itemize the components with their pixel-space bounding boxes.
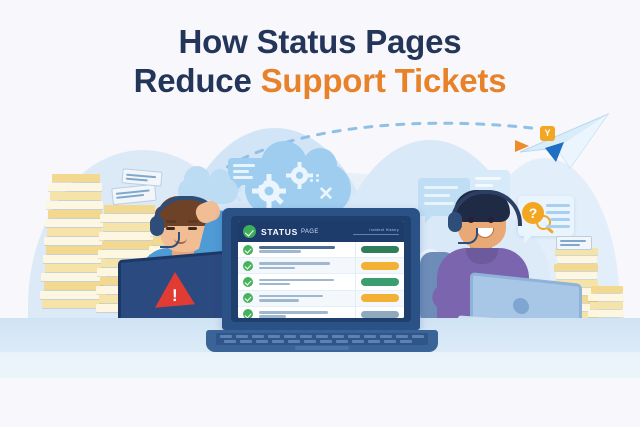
bottom-margin [0, 378, 640, 427]
sparkle [352, 196, 356, 200]
status-row-text [259, 309, 350, 318]
status-row-text [259, 261, 350, 271]
help-question-card: ? [518, 196, 574, 236]
status-row-text [259, 293, 350, 303]
center-laptop-keys [216, 333, 428, 345]
x-mark-icon: ✕ [318, 183, 334, 206]
row-divider [355, 258, 356, 273]
status-page-meta-rule [353, 234, 399, 236]
status-badge[interactable] [361, 311, 399, 318]
headline-line-2-plain: Reduce [134, 62, 261, 99]
status-row-text [259, 245, 350, 255]
status-row-list [238, 242, 404, 318]
row-divider [355, 274, 356, 289]
check-circle-icon [243, 293, 253, 303]
check-circle-icon [243, 261, 253, 271]
status-badge[interactable] [361, 294, 399, 302]
status-row[interactable] [238, 274, 404, 290]
poster-canvas: Y ✕ ✕ ? [0, 0, 640, 427]
status-row[interactable] [238, 258, 404, 274]
magnifier-icon [536, 215, 551, 230]
status-row-text [259, 277, 350, 287]
gear-icon [286, 162, 313, 189]
plane-badge: Y [540, 126, 555, 141]
dots-decoration [310, 174, 324, 184]
paper-plane-icon [512, 112, 612, 176]
check-circle-icon [243, 309, 253, 318]
status-page-header: STATUS PAGE Incident History [238, 221, 404, 242]
status-row[interactable] [238, 242, 404, 258]
status-page-meta: Incident History [353, 228, 399, 236]
status-row[interactable] [238, 291, 404, 307]
check-circle-icon [243, 245, 253, 255]
headline-line-1: How Status Pages [0, 22, 640, 61]
status-badge[interactable] [361, 246, 399, 254]
check-circle-icon [243, 277, 253, 287]
headline-line-2: Reduce Support Tickets [0, 61, 640, 100]
status-row[interactable] [238, 307, 404, 318]
status-page-title: STATUS [261, 227, 298, 237]
row-divider [355, 307, 356, 318]
status-page-meta-text: Incident History [353, 228, 399, 232]
headline-line-2-accent: Support Tickets [261, 62, 507, 99]
labeled-ticket [556, 236, 592, 250]
green-check-circle-icon [243, 225, 256, 238]
poster-headline: How Status Pages Reduce Support Tickets [0, 22, 640, 100]
status-page-subtitle: PAGE [301, 229, 319, 235]
status-page-screen: STATUS PAGE Incident History [238, 221, 404, 318]
status-badge[interactable] [361, 262, 399, 270]
center-laptop-trackpad [295, 346, 349, 350]
status-badge[interactable] [361, 278, 399, 286]
row-divider [355, 242, 356, 257]
warning-glyph: ! [172, 286, 178, 306]
row-divider [355, 291, 356, 306]
